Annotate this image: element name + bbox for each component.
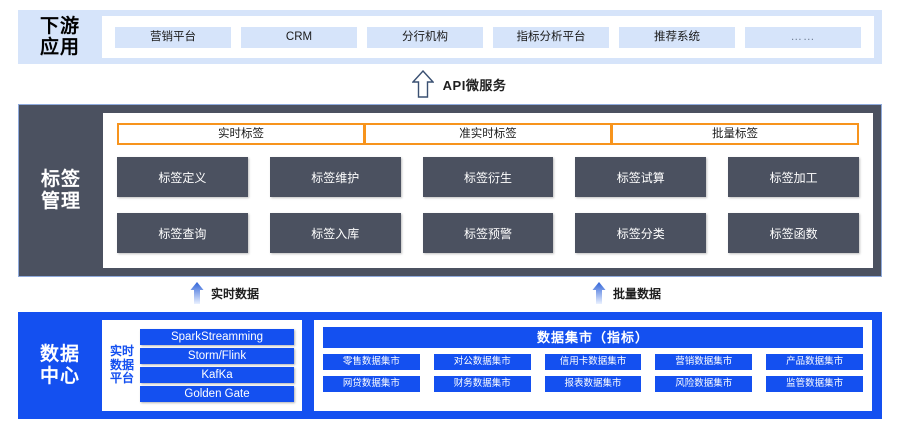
downstream-title-line-2: 应用 (40, 37, 80, 58)
app-box-more-ellipsis[interactable]: …… (745, 27, 861, 48)
mart-risk[interactable]: 风险数据集市 (655, 376, 752, 392)
realtime-tech-stack: SparkStreamming Storm/Flink KafKa Golden… (140, 329, 294, 402)
tag-function-derivation[interactable]: 标签衍生 (423, 157, 554, 197)
tag-function-query[interactable]: 标签查询 (117, 213, 248, 253)
tag-function-trial-calculation[interactable]: 标签试算 (575, 157, 706, 197)
data-flow-arrows-band: 实时数据 批量数据 (0, 277, 900, 312)
realtime-data-label: 实时数据 (211, 285, 259, 302)
tag-type-near-realtime[interactable]: 准实时标签 (366, 125, 610, 143)
data-center-section-title: 数据 中心 (18, 312, 102, 419)
data-center-title-line-2: 中心 (40, 366, 80, 387)
data-mart-header: 数据集市（指标） (323, 327, 863, 348)
downstream-section-title: 下游 应用 (18, 10, 102, 64)
app-box-marketing-platform[interactable]: 营销平台 (115, 27, 231, 48)
tag-function-storage[interactable]: 标签入库 (270, 213, 401, 253)
app-box-crm[interactable]: CRM (241, 27, 357, 48)
tag-management-title-line-2: 管理 (41, 191, 81, 212)
rt-title-line-1: 实时 (110, 345, 134, 359)
app-box-recommendation-system[interactable]: 推荐系统 (619, 27, 735, 48)
rt-title-line-3: 平台 (110, 372, 134, 386)
tag-management-section: 标签 管理 实时标签 准实时标签 批量标签 标签定义 标签维护 标签衍生 标签试… (18, 104, 882, 277)
batch-data-flow: 批量数据 (592, 282, 661, 304)
tag-management-panel: 实时标签 准实时标签 批量标签 标签定义 标签维护 标签衍生 标签试算 标签加工… (103, 113, 873, 268)
api-microservice-flow: API微服务 (18, 64, 882, 104)
mart-finance[interactable]: 财务数据集市 (434, 376, 531, 392)
mart-regulatory[interactable]: 监管数据集市 (766, 376, 863, 392)
app-box-metric-analysis-platform[interactable]: 指标分析平台 (493, 27, 609, 48)
tag-management-section-title: 标签 管理 (19, 105, 103, 276)
data-center-section: 数据 中心 实时 数据 平台 SparkStreamming Storm/Fli… (18, 312, 882, 419)
tag-management-title-line-1: 标签 (41, 169, 81, 190)
data-center-body: 实时 数据 平台 SparkStreamming Storm/Flink Kaf… (102, 312, 882, 419)
tag-function-grid: 标签定义 标签维护 标签衍生 标签试算 标签加工 标签查询 标签入库 标签预警 … (117, 157, 859, 253)
tech-golden-gate[interactable]: Golden Gate (140, 386, 294, 402)
tag-type-batch[interactable]: 批量标签 (613, 125, 857, 143)
mart-report[interactable]: 报表数据集市 (545, 376, 642, 392)
data-center-title-line-1: 数据 (40, 344, 80, 365)
mart-marketing[interactable]: 营销数据集市 (655, 354, 752, 370)
batch-data-label: 批量数据 (613, 285, 661, 302)
arrow-up-solid-icon (592, 282, 606, 304)
downstream-apps-panel: 营销平台 CRM 分行机构 指标分析平台 推荐系统 …… (102, 16, 874, 58)
realtime-data-flow: 实时数据 (190, 282, 259, 304)
data-mart-grid: 零售数据集市 对公数据集市 信用卡数据集市 营销数据集市 产品数据集市 网贷数据… (323, 354, 863, 392)
tag-function-classification[interactable]: 标签分类 (575, 213, 706, 253)
mart-online-loan[interactable]: 网贷数据集市 (323, 376, 420, 392)
tag-function-definition[interactable]: 标签定义 (117, 157, 248, 197)
tag-function-function[interactable]: 标签函数 (728, 213, 859, 253)
api-microservice-label: API微服务 (443, 75, 507, 94)
mart-corporate[interactable]: 对公数据集市 (434, 354, 531, 370)
realtime-data-platform-title: 实时 数据 平台 (110, 345, 134, 386)
tag-type-realtime[interactable]: 实时标签 (119, 125, 363, 143)
mart-retail[interactable]: 零售数据集市 (323, 354, 420, 370)
mart-product[interactable]: 产品数据集市 (766, 354, 863, 370)
tag-type-row: 实时标签 准实时标签 批量标签 (117, 123, 859, 145)
tech-storm-flink[interactable]: Storm/Flink (140, 348, 294, 364)
data-mart-panel: 数据集市（指标） 零售数据集市 对公数据集市 信用卡数据集市 营销数据集市 产品… (314, 320, 872, 411)
arrow-up-solid-icon (190, 282, 204, 304)
arrow-up-outline-icon (412, 70, 434, 98)
tech-spark-streaming[interactable]: SparkStreamming (140, 329, 294, 345)
downstream-applications-section: 下游 应用 营销平台 CRM 分行机构 指标分析平台 推荐系统 …… (18, 10, 882, 64)
tech-kafka[interactable]: KafKa (140, 367, 294, 383)
tag-function-processing[interactable]: 标签加工 (728, 157, 859, 197)
app-box-branch-institution[interactable]: 分行机构 (367, 27, 483, 48)
realtime-data-platform-panel: 实时 数据 平台 SparkStreamming Storm/Flink Kaf… (102, 320, 302, 411)
downstream-title-line-1: 下游 (40, 16, 80, 37)
tag-function-alert[interactable]: 标签预警 (423, 213, 554, 253)
mart-credit-card[interactable]: 信用卡数据集市 (545, 354, 642, 370)
tag-function-maintenance[interactable]: 标签维护 (270, 157, 401, 197)
